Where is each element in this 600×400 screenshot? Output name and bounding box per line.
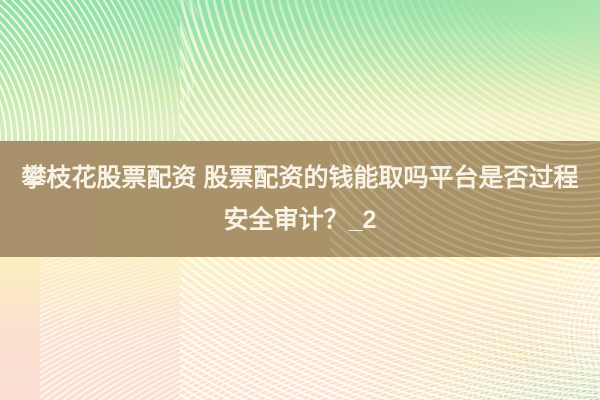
top-gradient-tint — [0, 0, 600, 141]
title-line-secondary: 安全审计？_2 — [224, 200, 377, 240]
title-line-primary: 攀枝花股票配资 股票配资的钱能取吗平台是否过程 — [22, 158, 579, 198]
article-title-banner: 攀枝花股票配资 股票配资的钱能取吗平台是否过程 安全审计？_2 — [0, 0, 600, 400]
bottom-right-golden-glow — [300, 300, 600, 400]
page-title: 攀枝花股票配资 股票配资的钱能取吗平台是否过程 安全审计？_2 — [0, 141, 600, 257]
